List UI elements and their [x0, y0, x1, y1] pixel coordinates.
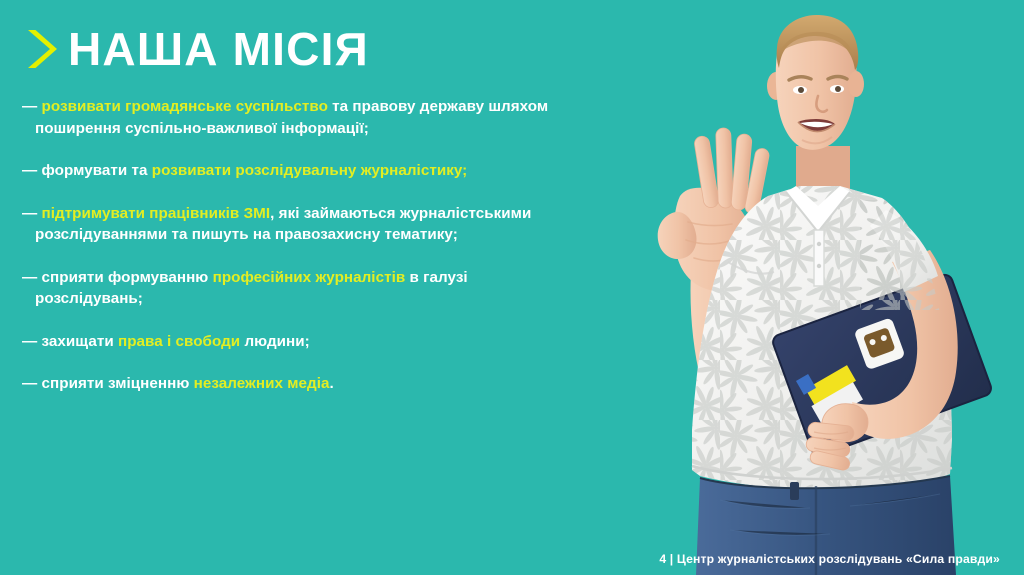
- chevron-right-icon: [24, 26, 58, 72]
- bullet-dash: —: [22, 162, 42, 179]
- mission-bullet: — захищати права і свободи людини;: [22, 331, 567, 353]
- mission-bullet: — формувати та розвивати розслідувальну …: [22, 160, 567, 182]
- bullet-dash: —: [22, 333, 42, 350]
- slide-header: НАША МІСІЯ: [24, 26, 369, 72]
- bullet-highlight-text: розвивати розслідувальну журналістику;: [152, 162, 467, 179]
- slide-canvas: НАША МІСІЯ — розвивати громадянське сусп…: [0, 0, 1024, 575]
- mission-list: — розвивати громадянське суспільство та …: [22, 96, 567, 395]
- slide-footer: 4 | Центр журналістських розслідувань «С…: [659, 552, 1000, 566]
- bullet-text: сприяти формуванню: [42, 269, 213, 286]
- bullet-highlight-text: права і свободи: [118, 333, 240, 350]
- bullet-dash: —: [22, 375, 42, 392]
- bullet-dash: —: [22, 98, 42, 115]
- bullet-text: .: [329, 375, 333, 392]
- bullet-text: захищати: [42, 333, 118, 350]
- mission-bullet: — сприяти зміцненню незалежних медіа.: [22, 373, 567, 395]
- bullet-highlight-text: розвивати громадянське суспільство: [42, 98, 328, 115]
- bullet-highlight-text: професійних журналістів: [213, 269, 406, 286]
- presenter-photo: [600, 0, 1024, 575]
- page-title: НАША МІСІЯ: [68, 26, 369, 72]
- bullet-dash: —: [22, 205, 42, 222]
- mission-bullet: — підтримувати працівників ЗМІ, які займ…: [22, 203, 567, 246]
- bullet-text: людини;: [240, 333, 310, 350]
- bullet-highlight-text: незалежних медіа: [194, 375, 330, 392]
- bullet-text: сприяти зміцненню: [42, 375, 194, 392]
- bullet-dash: —: [22, 269, 42, 286]
- bullet-highlight-text: підтримувати працівників ЗМІ: [42, 205, 271, 222]
- bullet-text: формувати та: [42, 162, 152, 179]
- mission-bullet: — сприяти формуванню професійних журналі…: [22, 267, 567, 310]
- mission-bullet: — розвивати громадянське суспільство та …: [22, 96, 567, 139]
